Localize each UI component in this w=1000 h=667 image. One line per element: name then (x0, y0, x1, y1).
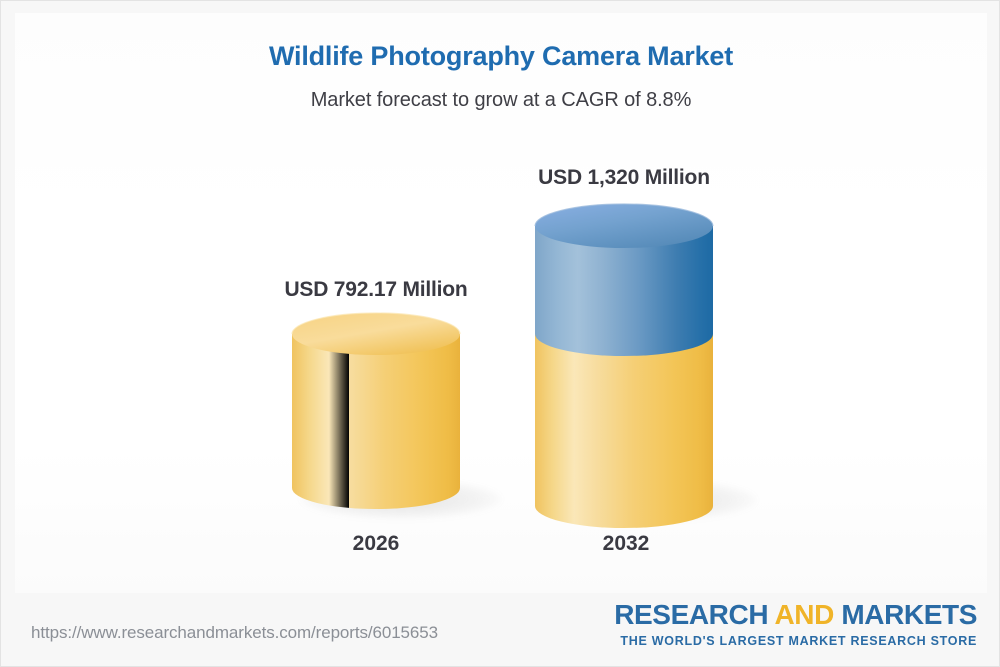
logo-tagline: THE WORLD'S LARGEST MARKET RESEARCH STOR… (614, 634, 977, 648)
category-label-2032: 2032 (456, 532, 796, 556)
logo-word-markets: MARKETS (841, 599, 977, 630)
source-url[interactable]: https://www.researchandmarkets.com/repor… (31, 623, 438, 643)
logo-word-research: RESEARCH (614, 599, 768, 630)
chart-plot-area: USD 792.17 Million (1, 1, 1000, 593)
value-label-2032: USD 1,320 Million (454, 166, 794, 190)
logo-word-and: AND (774, 599, 833, 630)
cylinder-2026 (281, 301, 481, 526)
brand-logo[interactable]: RESEARCH AND MARKETS THE WORLD'S LARGEST… (614, 601, 977, 648)
infographic-card: Wildlife Photography Camera Market Marke… (0, 0, 1000, 667)
logo-wordmark: RESEARCH AND MARKETS (614, 601, 977, 629)
cylinder-2032 (521, 189, 736, 529)
value-label-2026: USD 792.17 Million (206, 278, 546, 302)
